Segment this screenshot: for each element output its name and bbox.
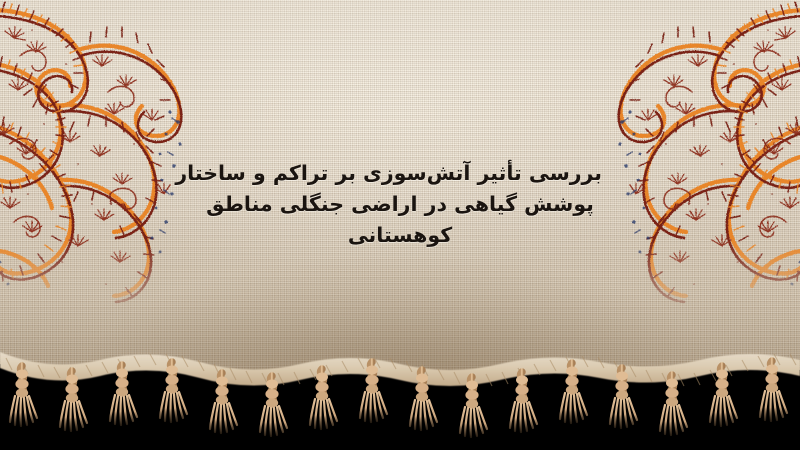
title-slide: بررسی تأثیر آتش‌سوزی بر تراکم و ساختار پ… [0,0,800,450]
slide-title: بررسی تأثیر آتش‌سوزی بر تراکم و ساختار پ… [198,158,602,251]
paisley-boteh-embroidery-right-icon [576,0,800,334]
title-line-2: پوشش گیاهی در اراضی جنگلی مناطق [198,189,602,220]
title-line-3: کوهستانی [198,220,602,251]
knotted-tassel-fringe-icon [0,330,800,450]
title-line-1: بررسی تأثیر آتش‌سوزی بر تراکم و ساختار [198,158,602,189]
